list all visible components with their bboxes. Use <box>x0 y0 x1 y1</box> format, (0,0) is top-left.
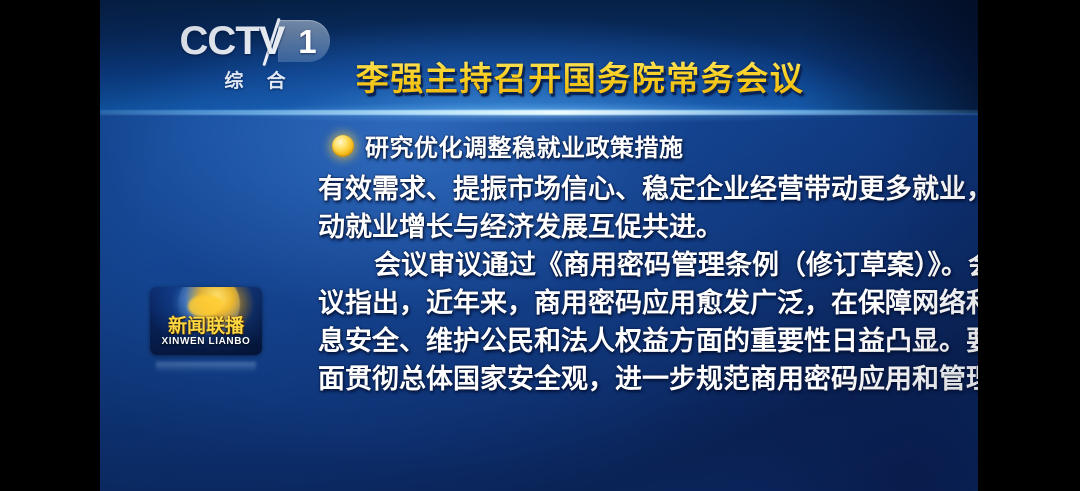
body-line: 会议审议通过《商用密码管理条例（修订草案）》。会 <box>318 246 978 284</box>
letterbox-left <box>0 0 100 491</box>
gold-dot-icon <box>332 135 354 157</box>
subtitle-row: 研究优化调整稳就业政策措施 <box>332 128 684 163</box>
video-frame: CCTV 1 综 合 李强主持召开国务院常务会议 研究优化调整稳就业政策措施 有… <box>100 0 978 491</box>
subtitle-label: 研究优化调整稳就业政策措施 <box>365 128 684 163</box>
news-body-text: 有效需求、提振市场信心、稳定企业经营带动更多就业，推动就业增长与经济发展互促共进… <box>318 170 978 398</box>
xinwen-lianbo-bug: 新闻联播 XINWEN LIANBO <box>150 287 262 355</box>
program-name-en: XINWEN LIANBO <box>150 336 262 347</box>
letterbox-right <box>978 0 1080 491</box>
body-line: 息安全、维护公民和法人权益方面的重要性日益凸显。要全 <box>318 322 978 360</box>
body-line: 议指出，近年来，商用密码应用愈发广泛，在保障网络和信 <box>318 284 978 322</box>
program-name-cn: 新闻联播 <box>150 317 262 336</box>
header-divider-line <box>100 110 978 115</box>
broadcast-screenshot: CCTV 1 综 合 李强主持召开国务院常务会议 研究优化调整稳就业政策措施 有… <box>0 0 1080 491</box>
body-line: 面贯彻总体国家安全观，进一步规范商用密码应用和管理， <box>318 360 978 398</box>
body-line: 动就业增长与经济发展互促共进。 <box>318 208 978 246</box>
news-headline: 李强主持召开国务院常务会议 <box>300 52 860 100</box>
body-line: 有效需求、提振市场信心、稳定企业经营带动更多就业，推 <box>318 170 978 208</box>
cctv-wordmark: CCTV <box>180 21 285 61</box>
bug-reflection <box>156 362 256 374</box>
